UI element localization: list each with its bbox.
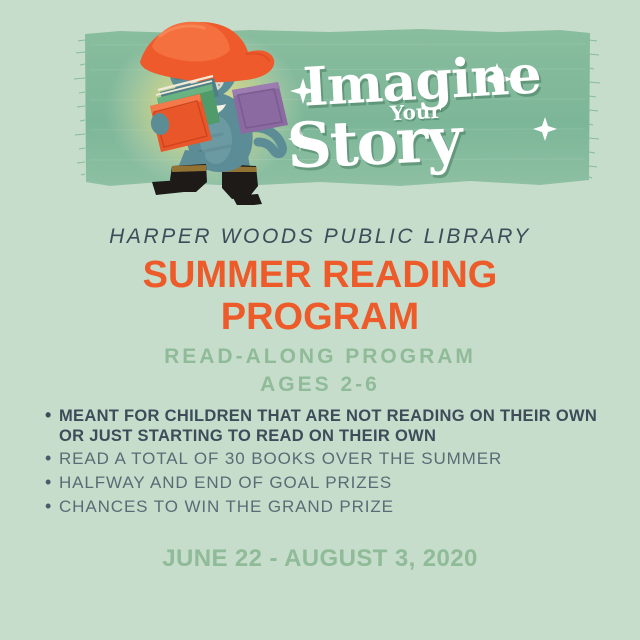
list-item-text: CHANCES TO WIN THE GRAND PRIZE: [59, 497, 394, 516]
page-title: SUMMER READING PROGRAM: [0, 256, 640, 336]
subtitle-ages: AGES 2-6: [0, 371, 640, 399]
title-line-2: PROGRAM: [0, 298, 640, 336]
banner-artwork: [0, 0, 640, 205]
library-name: HARPER WOODS PUBLIC LIBRARY: [0, 225, 640, 249]
program-details-list: • MEANT FOR CHILDREN THAT ARE NOT READIN…: [44, 406, 620, 517]
bullet-marker-icon: •: [45, 405, 52, 427]
banner-header: Imagine Your Story: [0, 0, 640, 205]
purple-book: [232, 82, 288, 134]
program-dates: JUNE 22 - AUGUST 3, 2020: [0, 545, 640, 573]
bullet-marker-icon: •: [45, 496, 52, 518]
subtitle-program-type: READ-ALONG PROGRAM: [164, 345, 476, 368]
program-subtitle: READ-ALONG PROGRAM AGES 2-6: [0, 343, 640, 398]
summer-reading-poster: Imagine Your Story HARPER WOODS PUBLIC L…: [0, 0, 640, 640]
bullet-marker-icon: •: [45, 472, 52, 494]
list-item-text: MEANT FOR CHILDREN THAT ARE NOT READING …: [59, 407, 597, 445]
list-item: • CHANCES TO WIN THE GRAND PRIZE: [44, 497, 620, 518]
list-item: • HALFWAY AND END OF GOAL PRIZES: [44, 473, 620, 494]
list-item: • MEANT FOR CHILDREN THAT ARE NOT READIN…: [44, 406, 620, 446]
bullet-marker-icon: •: [45, 448, 52, 470]
list-item-text: READ A TOTAL OF 30 BOOKS OVER THE SUMMER: [59, 449, 502, 468]
list-item-text: HALFWAY AND END OF GOAL PRIZES: [59, 473, 392, 492]
list-item: • READ A TOTAL OF 30 BOOKS OVER THE SUMM…: [44, 449, 620, 470]
title-line-1: SUMMER READING: [143, 254, 498, 296]
